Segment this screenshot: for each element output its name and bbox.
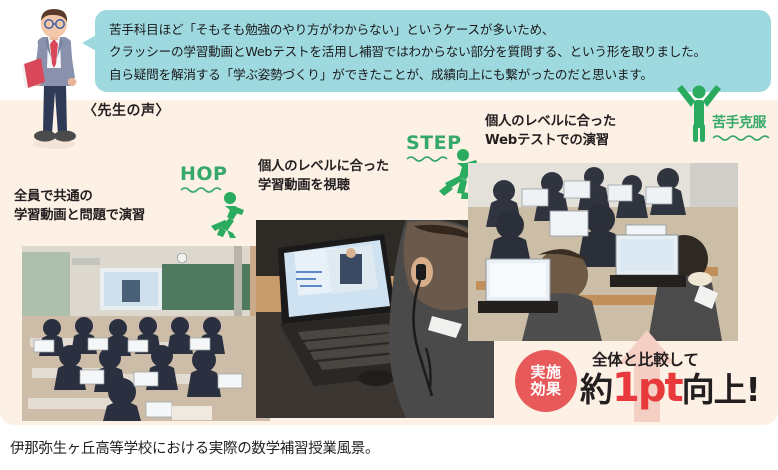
effect-badge: 実施 効果 [515, 350, 577, 412]
step-1-caption: 全員で共通の 学習動画と問題で演習 [14, 188, 145, 226]
teacher-illustration [8, 6, 100, 151]
teachers-voice-heading: 〈先生の声〉 [83, 100, 170, 120]
figure-caption: 伊那弥生ヶ丘高等学校における実際の数学補習授業風景。 [10, 437, 379, 458]
bubble-line-1: 苦手科目ほど「そもそも勉強のやり方がわからない」というケースが多いため、 [109, 20, 757, 40]
effect-badge-line1: 実施 [530, 364, 561, 381]
step-3-caption: 個人のレベルに合った Webテストでの演習 [485, 113, 616, 151]
overcome-weakness-text: 苦手克服 [712, 115, 766, 131]
step-3-caption-line2: Webテストでの演習 [485, 132, 616, 151]
result-value: 1pt [612, 365, 682, 411]
teacher-comment-bubble: 苦手科目ほど「そもそも勉強のやり方がわからない」というケースが多いため、 クラッ… [95, 10, 771, 92]
hop-runner-icon [203, 190, 247, 238]
overcome-weakness-label: 苦手克服 [712, 112, 774, 141]
result-prefix: 約 [580, 370, 612, 409]
hop-label: HOP [180, 163, 227, 185]
step-2-caption: 個人のレベルに合った 学習動画を視聴 [258, 158, 389, 196]
result-headline: 約1pt向上! [580, 368, 760, 408]
photo-students-web-test [468, 163, 738, 341]
result-suffix: 向上! [682, 370, 760, 409]
hop-wordmark: HOP [180, 163, 227, 193]
effect-badge-line2: 効果 [530, 381, 561, 398]
step-3-caption-line1: 個人のレベルに合った [485, 113, 616, 132]
photo-classroom-common-lesson [22, 246, 270, 421]
photo-student-watching-video [256, 220, 494, 418]
bubble-line-2: クラッシーの学習動画とWebテストを活用し補習ではわからない部分を質問する、とい… [109, 42, 757, 62]
step-1-caption-line1: 全員で共通の [14, 188, 145, 207]
wave-underline-icon [712, 134, 774, 141]
step-1-caption-line2: 学習動画と問題で演習 [14, 207, 145, 226]
step-2-caption-line2: 学習動画を視聴 [258, 177, 389, 196]
bubble-line-3: 自ら疑問を解消する「学ぶ姿勢づくり」ができたことが、成績向上にも繋がったのだと思… [109, 65, 757, 85]
step-2-caption-line1: 個人のレベルに合った [258, 158, 389, 177]
